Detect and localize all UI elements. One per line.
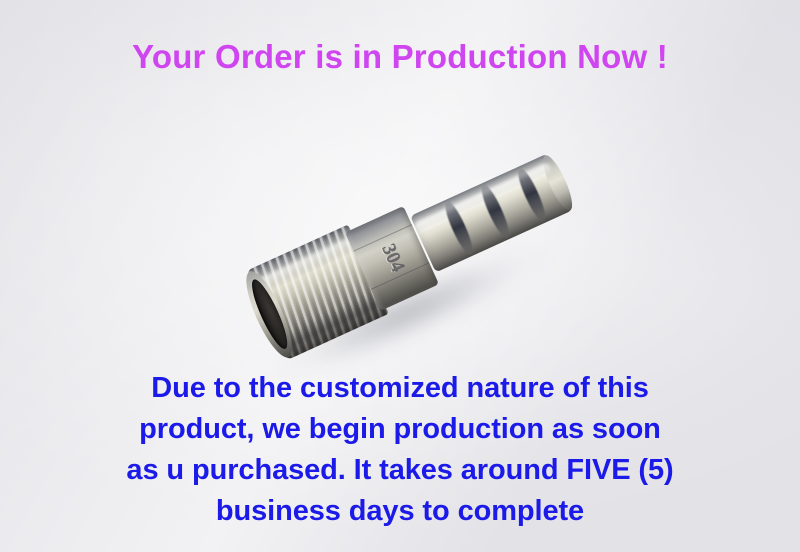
notice-line: business days to complete bbox=[0, 491, 800, 532]
page-title: Your Order is in Production Now ! bbox=[0, 38, 800, 76]
product-image: 304 bbox=[232, 150, 584, 362]
production-notice: Due to the customized nature of this pro… bbox=[0, 368, 800, 532]
notice-page: Your Order is in Production Now ! 304 bbox=[0, 0, 800, 552]
notice-line: Due to the customized nature of this bbox=[0, 368, 800, 409]
notice-line: as u purchased. It takes around FIVE (5) bbox=[0, 450, 800, 491]
material-grade-stamp: 304 bbox=[371, 236, 413, 281]
notice-line: product, we begin production as soon bbox=[0, 409, 800, 450]
